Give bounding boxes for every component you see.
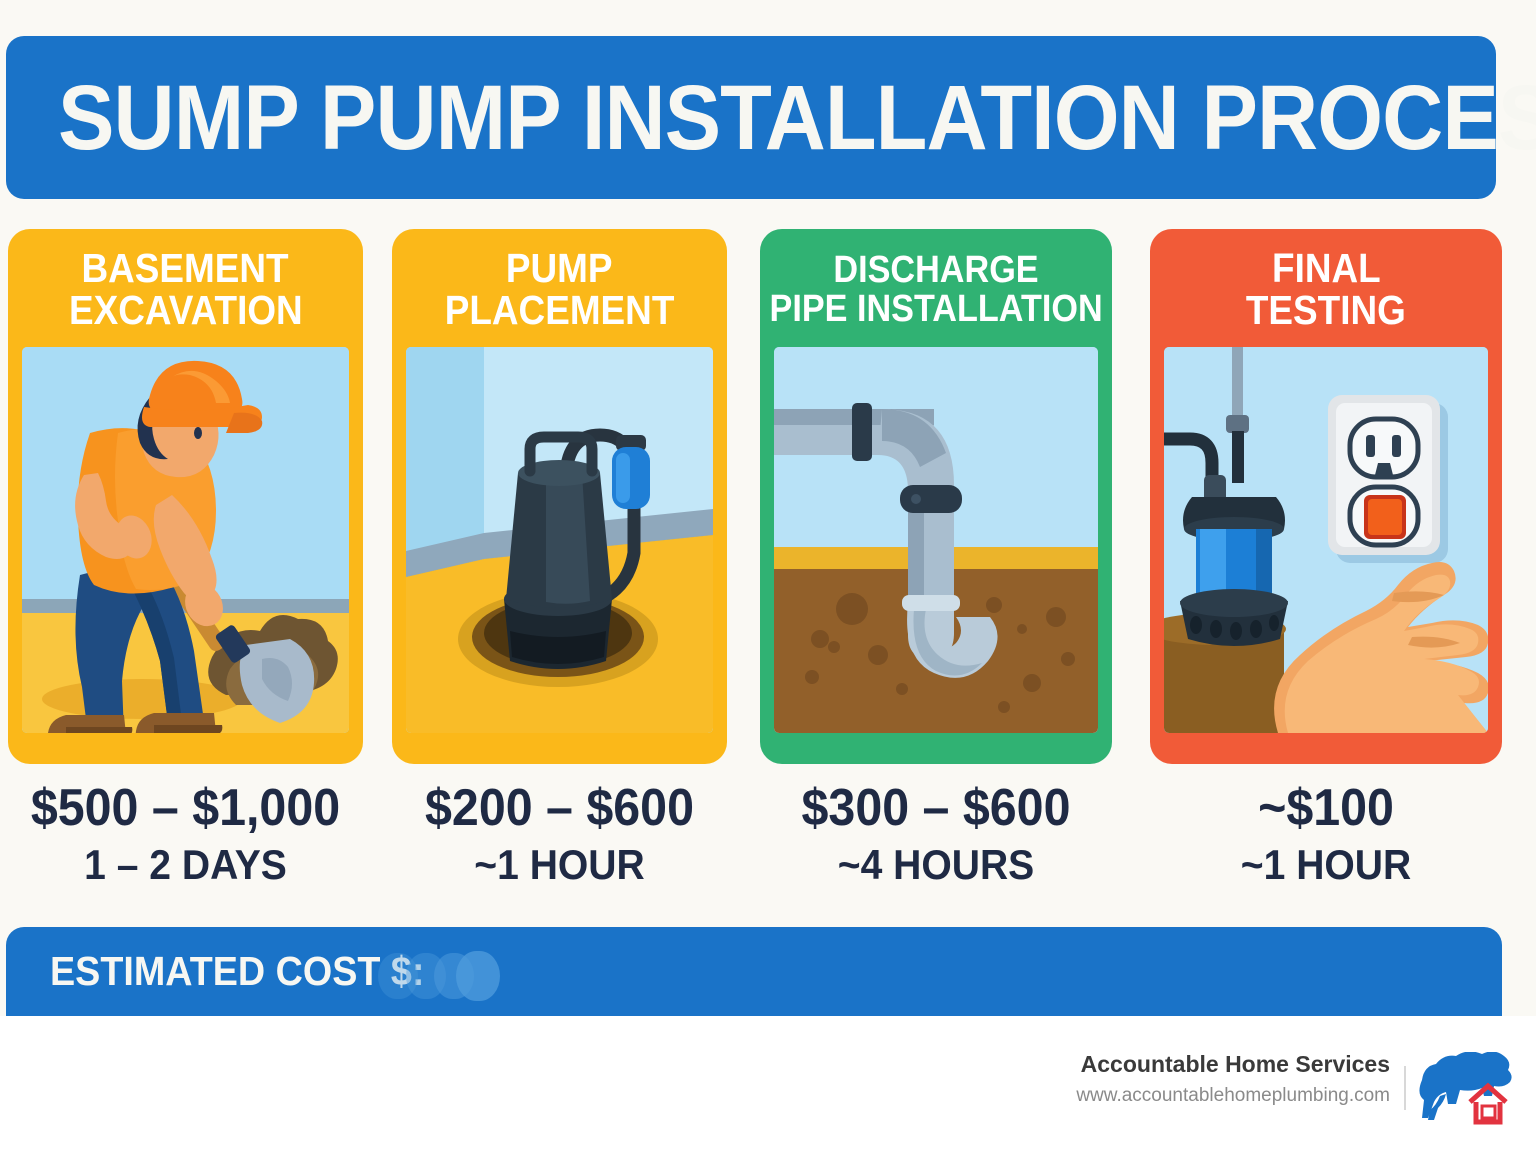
cost-time-captions: $500 – $1,000 1 – 2 DAYS $200 – $600 ~1 … [0,780,1536,910]
company-name: Accountable Home Services [1076,1050,1390,1079]
duration: ~1 HOUR [404,842,716,887]
price-range: $200 – $600 [404,780,716,836]
step-card-discharge-pipe-installation[interactable]: DISCHARGE PIPE INSTALLATION [760,229,1112,764]
coin-icon [456,951,500,1001]
step-card-header: FINAL TESTING [1150,229,1502,347]
buffalo-house-logo [1412,1052,1516,1126]
step-title-line1: FINAL [1272,248,1381,290]
step-title-line2: TESTING [1246,290,1406,332]
step-title-line2: PIPE INSTALLATION [769,290,1102,329]
website-url[interactable]: www.accountablehomeplumbing.com [1076,1083,1390,1110]
price-range: $500 – $1,000 [20,780,350,836]
footer-divider [1404,1066,1406,1110]
step-card-final-testing[interactable]: FINAL TESTING [1150,229,1502,764]
price-range: ~$100 [1162,780,1489,836]
caption-basement-excavation: $500 – $1,000 1 – 2 DAYS [8,780,363,888]
footer: Accountable Home Services www.accountabl… [0,1016,1536,1154]
step-title-line1: BASEMENT [82,248,289,290]
duration: ~4 HOURS [772,842,1099,887]
step-title-line2: EXCAVATION [69,290,303,332]
step-card-header: BASEMENT EXCAVATION [8,229,363,347]
hand-pressing-outlet-test-button-illustration [1164,347,1488,733]
discharge-pipe-illustration [774,347,1098,733]
caption-final-testing: ~$100 ~1 HOUR [1150,780,1502,888]
page-title: SUMP PUMP INSTALLATION PROCESS [58,72,1536,164]
estimated-cost-banner: ESTIMATED COST $: [6,927,1502,1016]
step-title-line1: DISCHARGE [833,251,1038,290]
sump-pump-in-pit-illustration [406,347,713,733]
worker-digging-illustration [22,347,349,733]
duration: ~1 HOUR [1162,842,1489,887]
estimated-cost-label: ESTIMATED COST $: [50,948,424,995]
step-card-header: PUMP PLACEMENT [392,229,727,347]
infographic-canvas: SUMP PUMP INSTALLATION PROCESS BASEMENT … [0,0,1536,1154]
step-card-header: DISCHARGE PIPE INSTALLATION [760,229,1112,347]
caption-pump-placement: $200 – $600 ~1 HOUR [392,780,727,888]
brand-text-block: Accountable Home Services www.accountabl… [1076,1050,1390,1109]
price-range: $300 – $600 [772,780,1099,836]
step-title-line1: PUMP [506,248,613,290]
step-card-basement-excavation[interactable]: BASEMENT EXCAVATION [8,229,363,764]
caption-discharge-pipe-installation: $300 – $600 ~4 HOURS [760,780,1112,888]
steps-row: BASEMENT EXCAVATION [0,229,1536,764]
title-banner: SUMP PUMP INSTALLATION PROCESS [6,36,1496,199]
duration: 1 – 2 DAYS [20,842,350,887]
step-card-pump-placement[interactable]: PUMP PLACEMENT [392,229,727,764]
step-title-line2: PLACEMENT [445,290,675,332]
